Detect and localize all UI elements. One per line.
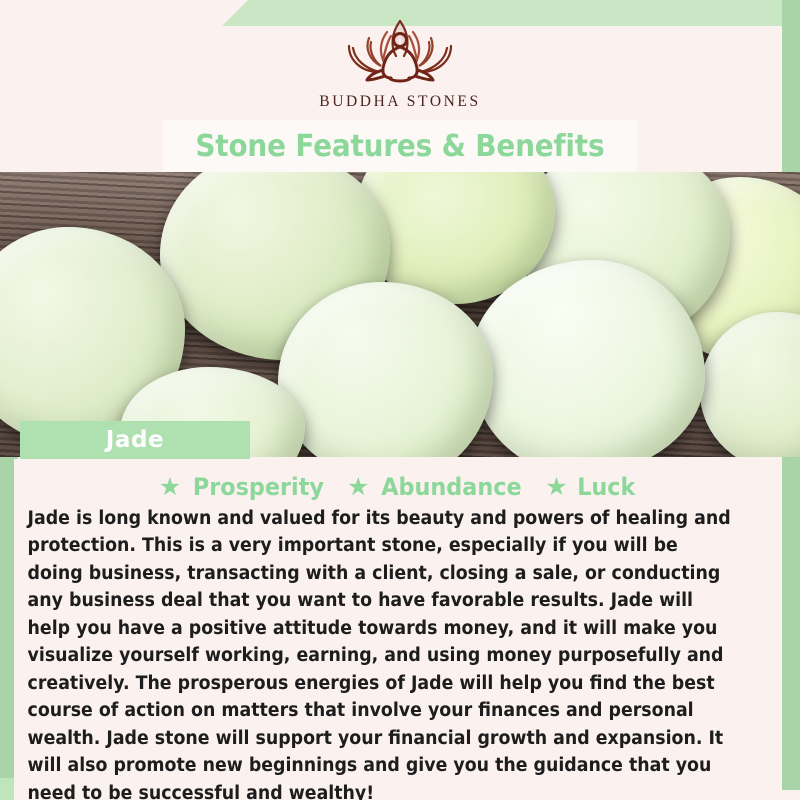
star-icon: ★ (159, 475, 181, 500)
benefit-item: ★ Abundance (347, 473, 527, 501)
star-icon: ★ (545, 475, 567, 500)
promo-card: BUDDHA STONES Stone Features & Benefits … (0, 0, 800, 800)
benefit-label: Luck (577, 473, 635, 501)
stone-name-banner: Jade (20, 421, 250, 459)
brand-name: BUDDHA STONES (319, 93, 480, 111)
brand-header: BUDDHA STONES (0, 0, 800, 122)
hero-image (0, 172, 800, 457)
benefits-list: ★ Prosperity ★ Abundance ★ Luck (18, 473, 778, 501)
content-panel: ★ Prosperity ★ Abundance ★ Luck Jade is … (14, 459, 782, 800)
page-title: Stone Features & Benefits (196, 129, 605, 164)
stone-name-label: Jade (106, 427, 165, 453)
benefit-label: Prosperity (193, 473, 324, 501)
stone-description: Jade is long known and valued for its be… (18, 505, 744, 800)
benefit-item: ★ Prosperity (159, 473, 329, 501)
page-title-panel: Stone Features & Benefits (163, 120, 637, 172)
star-icon: ★ (347, 475, 369, 500)
benefit-item: ★ Luck (545, 473, 637, 501)
benefit-label: Abundance (382, 473, 522, 501)
lotus-meditation-icon (325, 16, 475, 90)
